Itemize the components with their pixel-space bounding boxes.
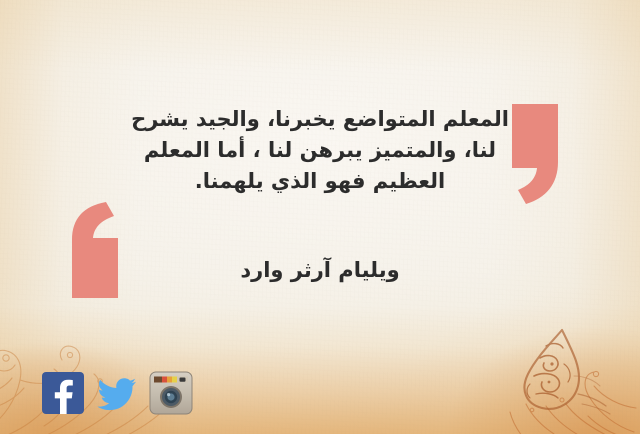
quote-line-3: العظيم فهو الذي يلهمنا. <box>120 166 520 197</box>
facebook-icon[interactable] <box>41 371 85 415</box>
quote-text: المعلم المتواضع يخبرنا، والجيد يشرح لنا،… <box>120 104 520 197</box>
quote-line-1: المعلم المتواضع يخبرنا، والجيد يشرح <box>120 104 520 135</box>
quote-line-2: لنا، والمتميز يبرهن لنا ، أما المعلم <box>120 135 520 166</box>
close-quote-mark-icon <box>68 202 118 298</box>
quote-card: المعلم المتواضع يخبرنا، والجيد يشرح لنا،… <box>0 0 640 434</box>
arabic-calligraphy-watermark <box>500 324 618 416</box>
social-icons-bar <box>41 371 193 415</box>
instagram-icon[interactable] <box>149 371 193 415</box>
twitter-icon[interactable] <box>95 371 139 415</box>
quote-author: ويليام آرثر وارد <box>120 258 520 282</box>
